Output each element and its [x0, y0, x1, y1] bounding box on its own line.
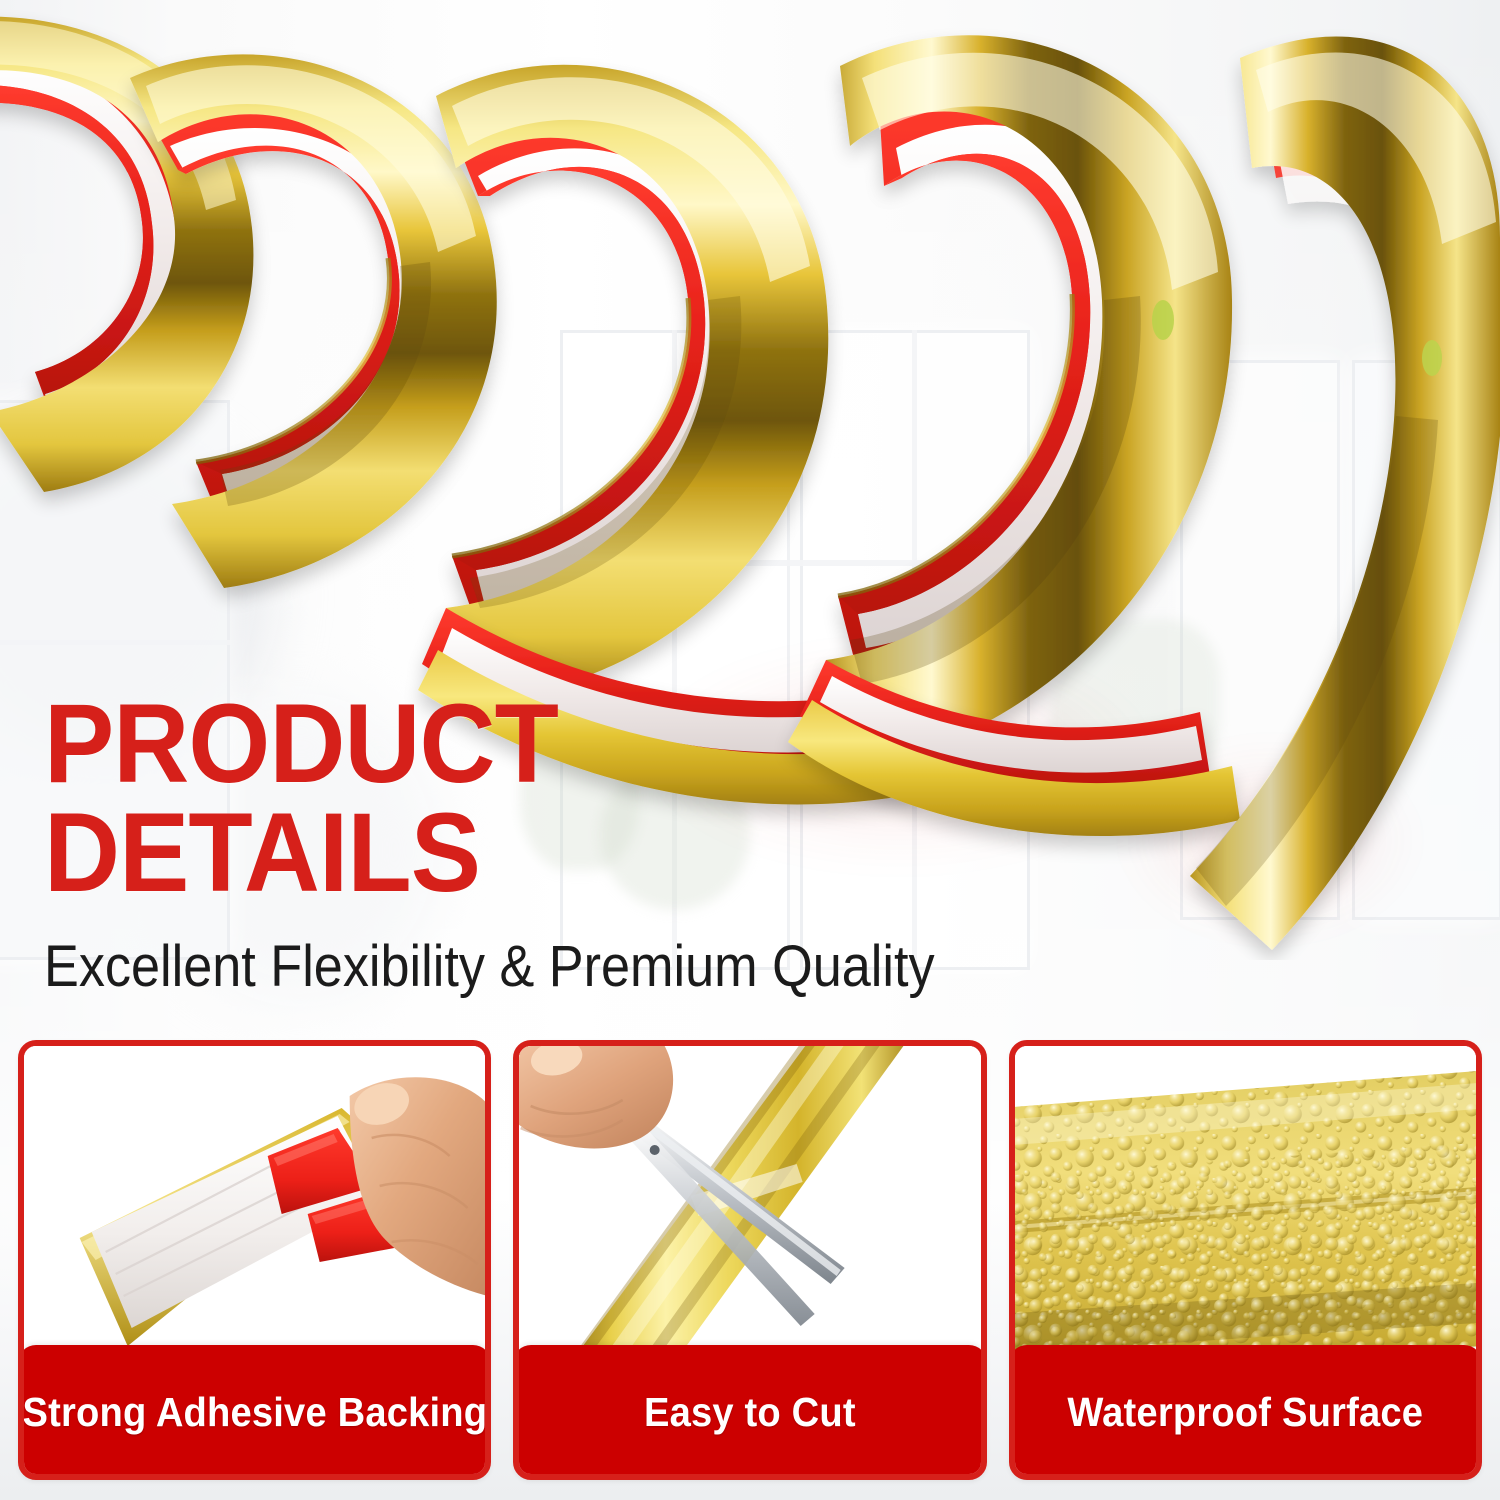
feature-panel-row: Strong Adhesive Backing [18, 1040, 1482, 1480]
page-title-line1: PRODUCT [44, 681, 558, 806]
feature-panel-waterproof[interactable]: Waterproof Surface [1009, 1040, 1482, 1480]
page-title: PRODUCT DETAILS [44, 690, 1153, 907]
panel-caption-label: Strong Adhesive Backing [22, 1389, 487, 1436]
scissors-cutting-gold-trim-photo [519, 1046, 980, 1364]
feature-panel-cut[interactable]: Easy to Cut [513, 1040, 986, 1480]
panel-caption-adhesive: Strong Adhesive Backing [18, 1345, 491, 1480]
feature-panel-adhesive[interactable]: Strong Adhesive Backing [18, 1040, 491, 1480]
water-droplets-on-gold-trim-photo [1015, 1046, 1476, 1364]
panel-caption-label: Easy to Cut [644, 1389, 856, 1436]
hand-peeling-adhesive-liner-photo [24, 1046, 485, 1364]
page-title-line2: DETAILS [44, 790, 480, 915]
product-details-infographic: PRODUCT DETAILS Excellent Flexibility & … [0, 0, 1500, 1500]
page-subtitle: Excellent Flexibility & Premium Quality [44, 937, 1106, 998]
panel-caption-cut: Easy to Cut [513, 1345, 986, 1480]
panel-caption-label: Waterproof Surface [1067, 1389, 1423, 1436]
headline-block: PRODUCT DETAILS Excellent Flexibility & … [44, 690, 1224, 998]
panel-caption-waterproof: Waterproof Surface [1009, 1345, 1482, 1480]
